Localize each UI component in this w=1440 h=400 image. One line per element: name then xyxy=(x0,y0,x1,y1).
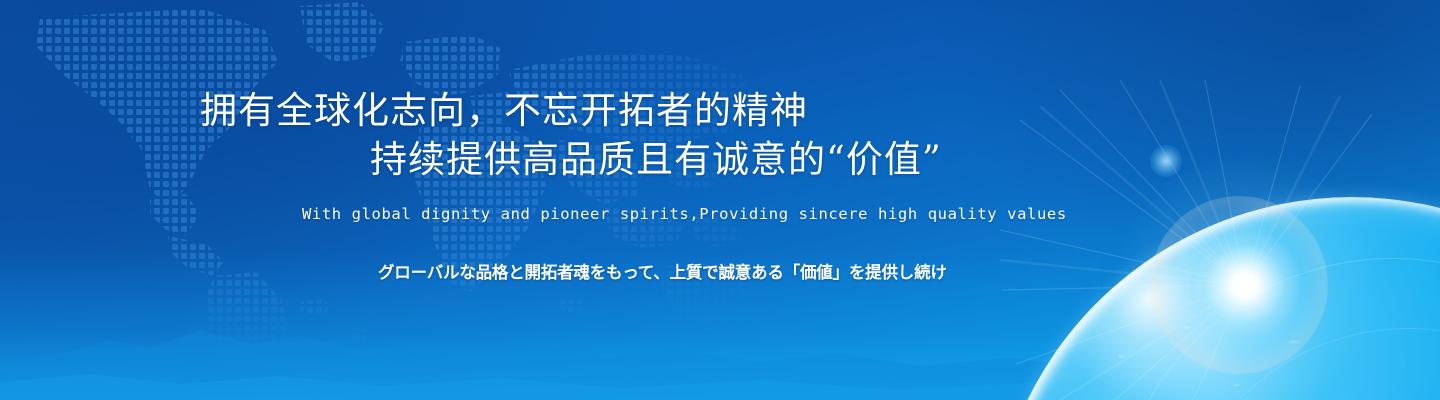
planet-surface-texture xyxy=(992,198,1440,400)
bottom-glow xyxy=(0,250,1100,400)
planet-rim-light xyxy=(991,197,1440,400)
sun-flare-core xyxy=(1190,230,1300,340)
dotted-world-map xyxy=(0,0,900,400)
sun-flare-ring xyxy=(1150,196,1328,374)
sun-flare-rays xyxy=(1000,80,1440,400)
top-right-vignette xyxy=(920,0,1440,320)
banner-copy: 拥有全球化志向，不忘开拓者的精神 持续提供高品质且有诚意的“价值” With g… xyxy=(0,0,1440,400)
planet-sphere xyxy=(992,198,1440,400)
banner-subtitle-japanese: グローバルな品格と開拓者魂をもって、上質で誠意ある「価値」を提供し続け xyxy=(378,259,947,283)
headline-line-2: 持续提供高品质且有诚意的“价值” xyxy=(200,135,942,184)
sun-flare-halo xyxy=(1118,158,1374,400)
hero-banner: 拥有全球化志向，不忘开拓者的精神 持续提供高品质且有诚意的“价值” With g… xyxy=(0,0,1440,400)
banner-headline: 拥有全球化志向，不忘开拓者的精神 持续提供高品质且有诚意的“价值” xyxy=(200,86,942,184)
earth-limb-globe xyxy=(880,0,1440,400)
top-left-vignette xyxy=(0,0,640,360)
mountain-horizon-silhouette xyxy=(0,270,1440,400)
banner-subtitle-english: With global dignity and pioneer spirits,… xyxy=(302,205,1067,223)
lens-flare-dot xyxy=(1150,145,1182,177)
planet-arc-inner xyxy=(1172,328,1440,400)
planet-arc-outer xyxy=(1112,258,1440,400)
headline-line-1: 拥有全球化志向，不忘开拓者的精神 xyxy=(200,89,808,132)
